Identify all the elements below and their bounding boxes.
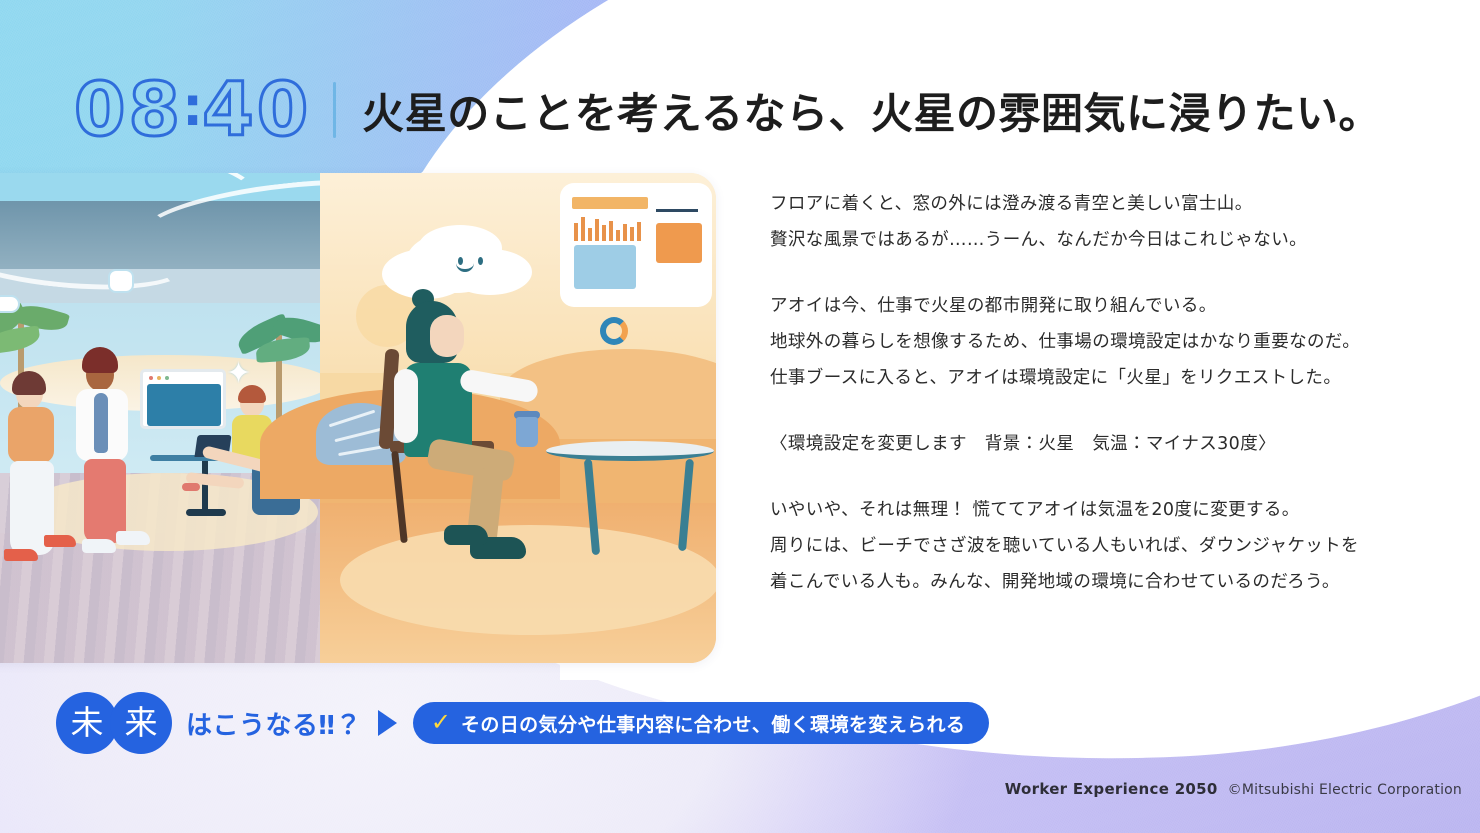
footer-copyright: ©Mitsubishi Electric Corporation <box>1228 782 1462 798</box>
arm-upper <box>394 369 418 443</box>
page-title: 火星のことを考えるなら、火星の雰囲気に浸りたい。 <box>362 80 1381 141</box>
check-icon: ✓ <box>431 711 451 735</box>
title-divider <box>333 82 336 138</box>
chat-bubble-2 <box>0 295 20 313</box>
wall-monitor <box>140 369 226 429</box>
result-badge-label: その日の気分や仕事内容に合わせ、働く環境を変えられる <box>461 710 965 737</box>
dashboard-bar-chart <box>574 215 646 241</box>
desk-foot <box>186 509 226 516</box>
paragraph-3-line-1: 〈環境設定を変更します 背景：火星 気温：マイナス30度〉 <box>770 426 1430 462</box>
header: 08∶40 火星のことを考えるなら、火星の雰囲気に浸りたい。 <box>0 60 1480 160</box>
story-text: フロアに着くと、窓の外には澄み渡る青空と美しい富士山。 贅沢な風景ではあるが……… <box>770 186 1430 600</box>
clock-time: 08∶40 <box>74 73 311 147</box>
bottom-phrase: はこうなる‼？ <box>186 705 362 742</box>
bottom-summary-bar: 未 来 はこうなる‼？ ✓ その日の気分や仕事内容に合わせ、働く環境を変えられる <box>56 692 989 754</box>
paragraph-2-line-2: 地球外の暮らしを想像するため、仕事場の環境設定はかなり重要なのだ。 <box>770 324 1430 360</box>
illustration-mars-booth <box>320 173 716 663</box>
desk-leg <box>202 461 208 511</box>
monitor-video-feed <box>147 384 221 426</box>
paragraph-4-line-3: 着こんでいる人も。みんな、開発地域の環境に合わせているのだろう。 <box>770 564 1430 600</box>
paragraph-gap-3 <box>770 462 1430 492</box>
mars-floor-disc <box>340 525 716 635</box>
footer: Worker Experience 2050 ©Mitsubishi Elect… <box>1005 780 1462 798</box>
paragraph-2-line-3: 仕事ブースに入ると、アオイは環境設定に「火星」をリクエストした。 <box>770 360 1430 396</box>
clock-colon-icon: ∶ <box>185 82 200 142</box>
logo-glyph-mirai-1: 未 <box>56 701 118 745</box>
donut-chart-icon <box>600 317 628 345</box>
paragraph-1-line-1: フロアに着くと、窓の外には澄み渡る青空と美しい富士山。 <box>770 186 1430 222</box>
dashboard-panel-orange <box>656 223 702 263</box>
coffee-cup <box>516 417 538 447</box>
logo-glyph-mirai-2: 来 <box>110 701 172 745</box>
future-logo: 未 来 <box>56 692 172 754</box>
paragraph-4-line-2: 周りには、ビーチでさざ波を聴いている人もいれば、ダウンジャケットを <box>770 528 1430 564</box>
play-triangle-icon <box>378 710 397 736</box>
floating-dashboard <box>560 183 712 307</box>
chat-bubble-1 <box>108 269 134 293</box>
dashboard-panel-blue <box>574 245 636 289</box>
thought-cloud-icon <box>406 231 506 293</box>
mars-table <box>546 441 714 461</box>
shoe-back <box>444 525 488 545</box>
dashboard-title-bar <box>572 197 648 209</box>
paragraph-1-line-2: 贅沢な風景ではあるが……うーん、なんだか今日はこれじゃない。 <box>770 222 1430 258</box>
face <box>430 315 464 357</box>
paragraph-gap-1 <box>770 258 1430 288</box>
result-badge[interactable]: ✓ その日の気分や仕事内容に合わせ、働く環境を変えられる <box>413 702 990 744</box>
scene-illustration: ✦ <box>0 173 716 663</box>
paragraph-4-line-1: いやいや、それは無理！ 慌ててアオイは気温を20度に変更する。 <box>770 492 1430 528</box>
paragraph-gap-2 <box>770 396 1430 426</box>
paragraph-2-line-1: アオイは今、仕事で火星の都市開発に取り組んでいる。 <box>770 288 1430 324</box>
dashboard-rule <box>656 209 698 212</box>
footer-brand: Worker Experience 2050 <box>1005 780 1218 798</box>
clock-hours: 08 <box>74 67 183 153</box>
clock-minutes: 40 <box>202 67 311 153</box>
